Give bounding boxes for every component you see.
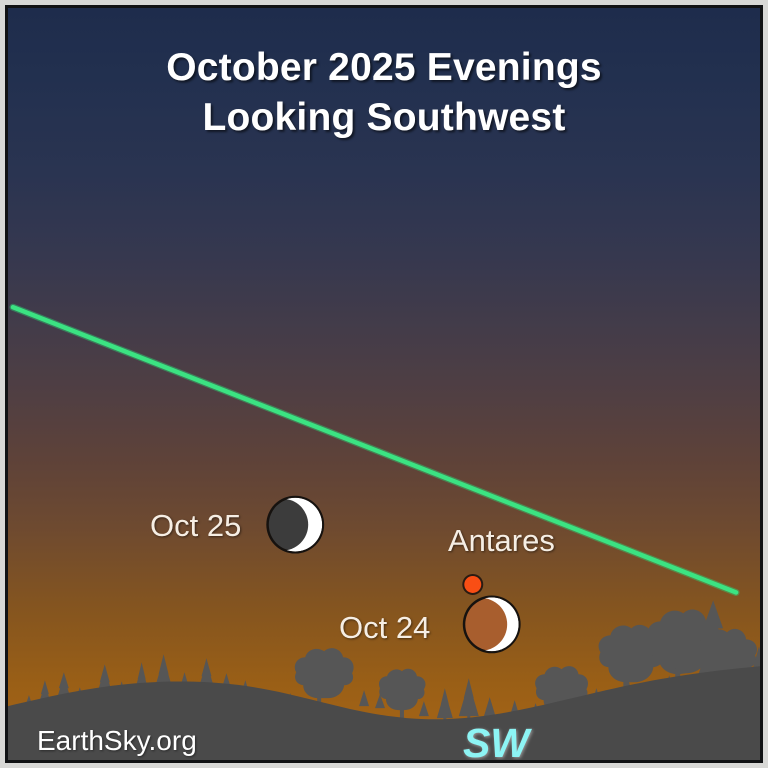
tree-shrub-small-3 <box>359 690 369 706</box>
label-moon-oct-25: Oct 25 <box>150 508 241 544</box>
moon-oct-25 <box>266 496 324 554</box>
label-direction-southwest: SW <box>463 720 529 763</box>
ecliptic-line <box>13 307 736 592</box>
moon-oct-24 <box>463 595 521 653</box>
chart-title-line-2: Looking Southwest <box>8 96 760 140</box>
label-antares: Antares <box>448 523 555 559</box>
label-earthsky-credit: EarthSky.org <box>37 725 197 757</box>
label-moon-oct-24: Oct 24 <box>339 610 430 646</box>
tree-shrub-small-5 <box>419 701 429 716</box>
chart-title-line-1: October 2025 Evenings <box>8 46 760 90</box>
tree-conifer-mid-1 <box>437 688 453 724</box>
chart-frame: October 2025 Evenings Looking Southwest … <box>0 0 768 768</box>
chart-inner: October 2025 Evenings Looking Southwest … <box>5 5 763 763</box>
antares-star <box>462 574 483 595</box>
